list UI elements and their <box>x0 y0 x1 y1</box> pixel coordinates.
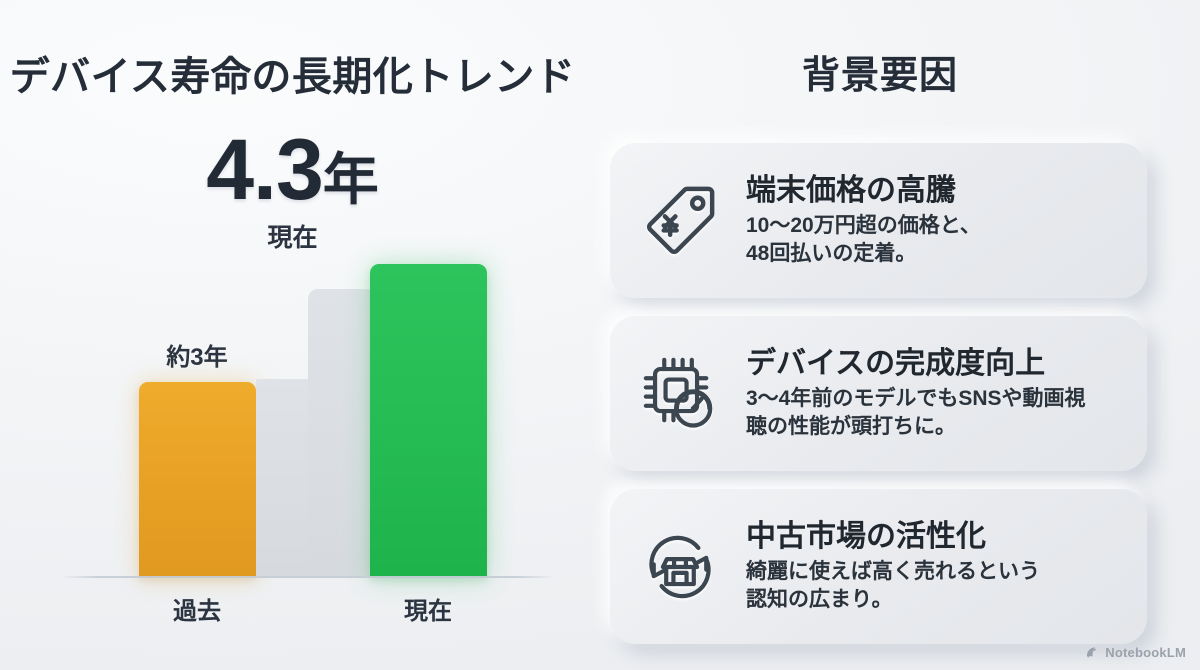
chart-panel-title: デバイス寿命の長期化トレンド <box>0 44 585 102</box>
factor-card-body: 綺麗に使えば高く売れるという 認知の広まり。 <box>746 558 1129 613</box>
factor-card[interactable]: デバイスの完成度向上 3〜4年前のモデルでもSNSや動画視 聴の性能が頭打ちに。 <box>610 316 1147 471</box>
chart-panel: デバイス寿命の長期化トレンド 4.3年 現在 約3年 過去 現在 <box>0 0 585 670</box>
watermark: NotebookLM <box>1085 645 1186 660</box>
storefront-recycle-icon <box>632 519 728 615</box>
notebooklm-logo-icon <box>1085 645 1100 660</box>
headline-stat-unit: 年 <box>323 148 379 211</box>
factor-card-body: 3〜4年前のモデルでもSNSや動画視 聴の性能が頭打ちに。 <box>746 385 1129 440</box>
factor-card-body-line2: 聴の性能が頭打ちに。 <box>746 413 1129 440</box>
x-axis-label-current: 現在 <box>358 591 498 626</box>
watermark-label: NotebookLM <box>1105 645 1186 660</box>
factor-card-body: 10〜20万円超の価格と、 48回払いの定着。 <box>746 212 1129 267</box>
factor-card-body-line1: 3〜4年前のモデルでもSNSや動画視 <box>746 385 1129 412</box>
factor-card[interactable]: 端末価格の高騰 10〜20万円超の価格と、 48回払いの定着。 <box>610 143 1147 298</box>
factor-card-title: 端末価格の高騰 <box>746 174 1129 207</box>
factor-card[interactable]: 中古市場の活性化 綺麗に使えば高く売れるという 認知の広まり。 <box>610 489 1147 644</box>
factor-card-list: 端末価格の高騰 10〜20万円超の価格と、 48回払いの定着。 <box>610 143 1147 644</box>
factor-card-body-line1: 綺麗に使えば高く売れるという <box>746 558 1129 585</box>
slide-root: デバイス寿命の長期化トレンド 4.3年 現在 約3年 過去 現在 背景要因 <box>0 0 1200 670</box>
factor-card-body-line2: 認知の広まり。 <box>746 586 1129 613</box>
x-axis-label-past: 過去 <box>127 591 267 626</box>
bar-past <box>139 382 256 578</box>
headline-stat-number: 4.3 <box>206 122 323 218</box>
headline-stat-value: 4.3年 <box>0 128 585 212</box>
factor-card-text: 端末価格の高騰 10〜20万円超の価格と、 48回払いの定着。 <box>746 174 1129 267</box>
headline-stat-caption: 現在 <box>0 218 585 254</box>
factor-card-body-line1: 10〜20万円超の価格と、 <box>746 212 1129 239</box>
factor-card-title: 中古市場の活性化 <box>746 520 1129 553</box>
cpu-gauge-icon <box>632 346 728 442</box>
past-bar-value-label: 約3年 <box>117 337 277 372</box>
price-tag-yen-icon <box>632 173 728 269</box>
factors-panel-title: 背景要因 <box>585 44 1175 99</box>
bar-chart: 約3年 過去 現在 <box>60 250 555 640</box>
bar-current <box>370 264 487 578</box>
chart-baseline <box>60 576 555 578</box>
factors-panel: 背景要因 端末価格の高騰 <box>585 0 1200 670</box>
factor-card-text: デバイスの完成度向上 3〜4年前のモデルでもSNSや動画視 聴の性能が頭打ちに。 <box>746 347 1129 440</box>
step-connector-upper <box>308 289 376 578</box>
factor-card-title: デバイスの完成度向上 <box>746 347 1129 380</box>
headline-stat: 4.3年 現在 <box>0 128 585 254</box>
step-connector-lower <box>256 379 314 578</box>
factor-card-text: 中古市場の活性化 綺麗に使えば高く売れるという 認知の広まり。 <box>746 520 1129 613</box>
factor-card-body-line2: 48回払いの定着。 <box>746 240 1129 267</box>
